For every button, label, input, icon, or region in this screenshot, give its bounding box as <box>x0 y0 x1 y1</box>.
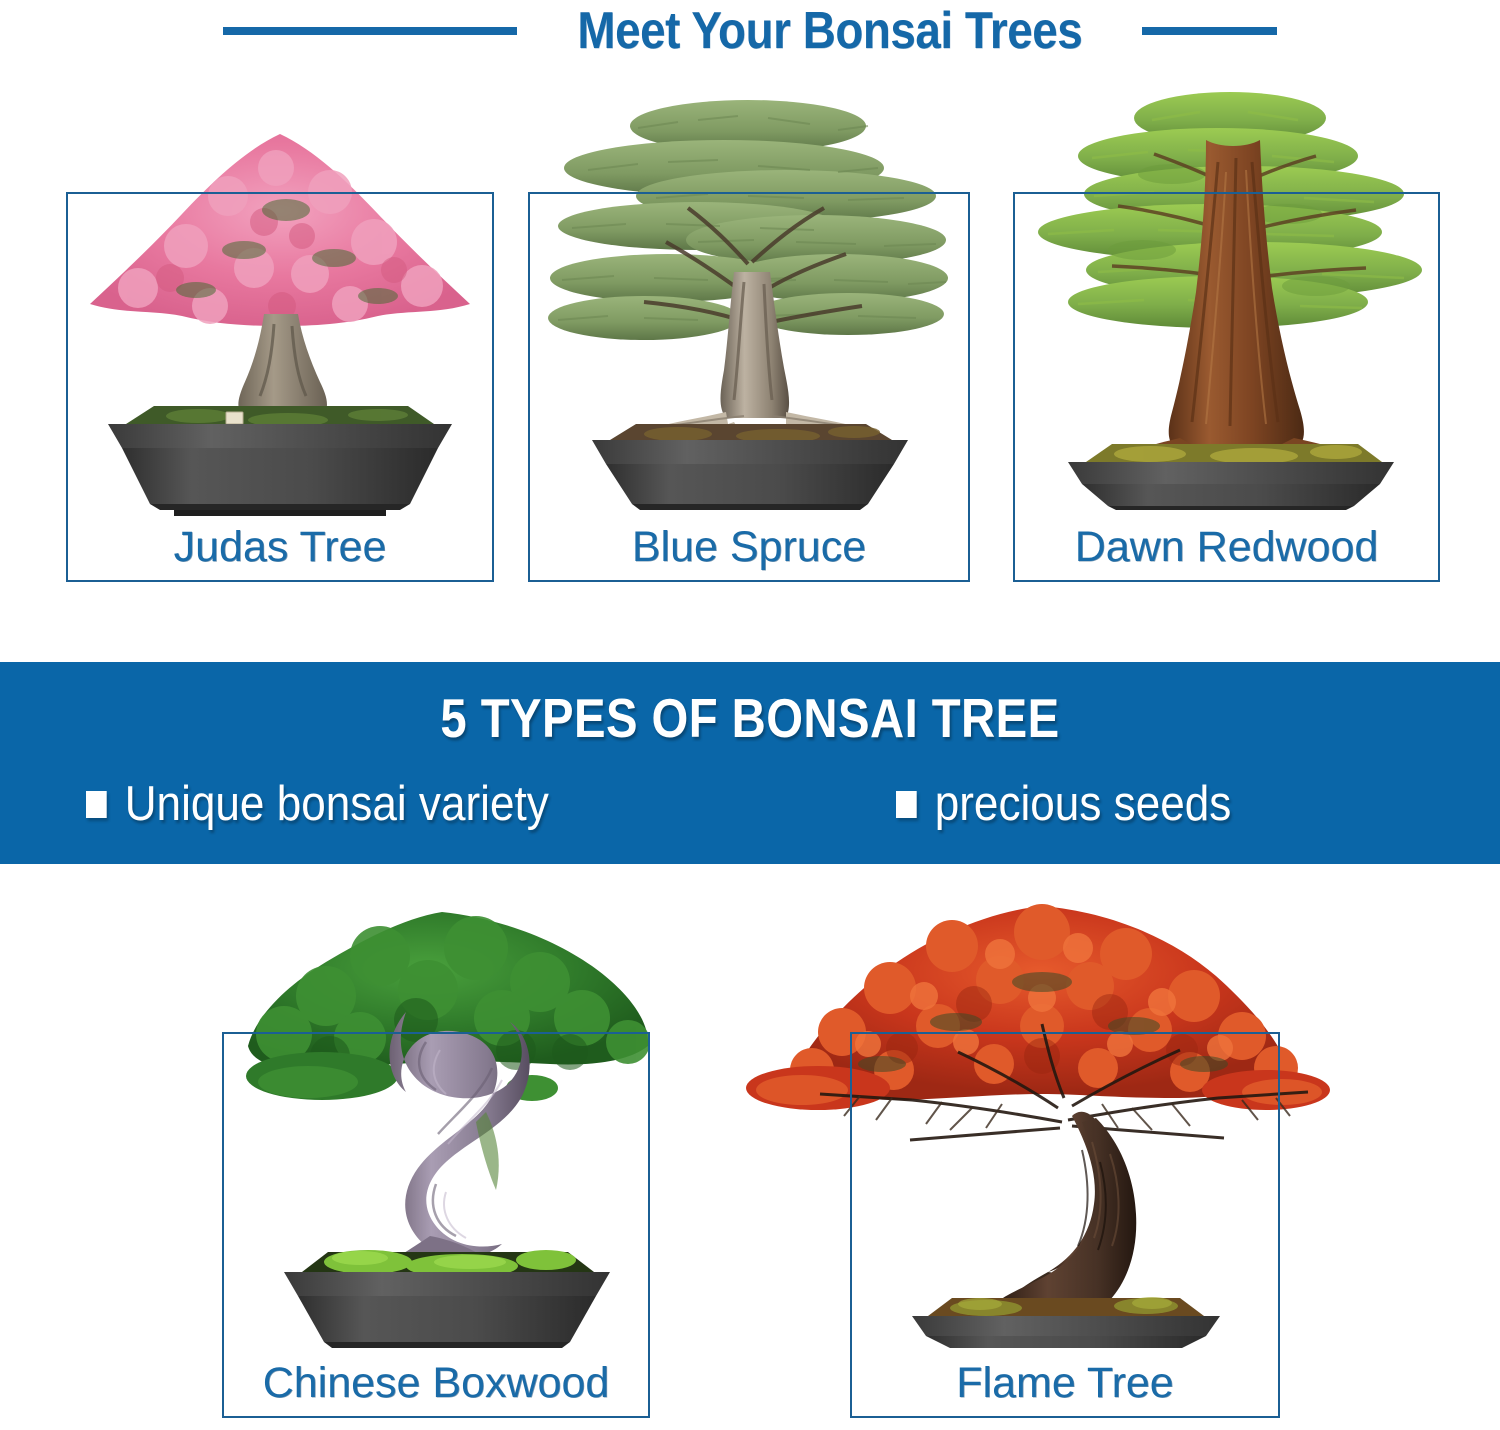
header-rule-left <box>223 27 517 35</box>
bonsai-infographic: Meet Your Bonsai Trees <box>0 0 1500 1430</box>
banner-bullet-label-1: Unique bonsai variety <box>125 776 549 832</box>
white-square-bullet-icon <box>896 791 917 818</box>
card-flame-tree[interactable]: Flame Tree <box>850 1032 1280 1418</box>
banner-title: 5 TYPES OF BONSAI TREE <box>105 686 1395 750</box>
card-dawn-redwood[interactable]: Dawn Redwood <box>1013 192 1440 582</box>
card-blue-spruce[interactable]: Blue Spruce <box>528 192 970 582</box>
banner-bullet-item-1: Unique bonsai variety <box>86 776 549 832</box>
page-title: Meet Your Bonsai Trees <box>577 1 1082 61</box>
banner-bullet-label-2: precious seeds <box>935 776 1232 832</box>
banner-bullet-list: Unique bonsai variety precious seeds <box>0 776 1500 846</box>
card-judas-tree[interactable]: Judas Tree <box>66 192 494 582</box>
header-rule-right <box>1142 27 1277 35</box>
card-chinese-boxwood[interactable]: Chinese Boxwood <box>222 1032 650 1418</box>
white-square-bullet-icon <box>86 791 107 818</box>
card-label-judas-tree: Judas Tree <box>68 523 492 572</box>
promo-banner: 5 TYPES OF BONSAI TREE Unique bonsai var… <box>0 662 1500 864</box>
card-label-flame-tree: Flame Tree <box>852 1359 1278 1408</box>
banner-bullet-item-2: precious seeds <box>896 776 1231 832</box>
card-label-dawn-redwood: Dawn Redwood <box>1015 523 1438 572</box>
page-header: Meet Your Bonsai Trees <box>0 0 1500 62</box>
card-label-chinese-boxwood: Chinese Boxwood <box>224 1359 648 1408</box>
card-label-blue-spruce: Blue Spruce <box>530 523 968 572</box>
